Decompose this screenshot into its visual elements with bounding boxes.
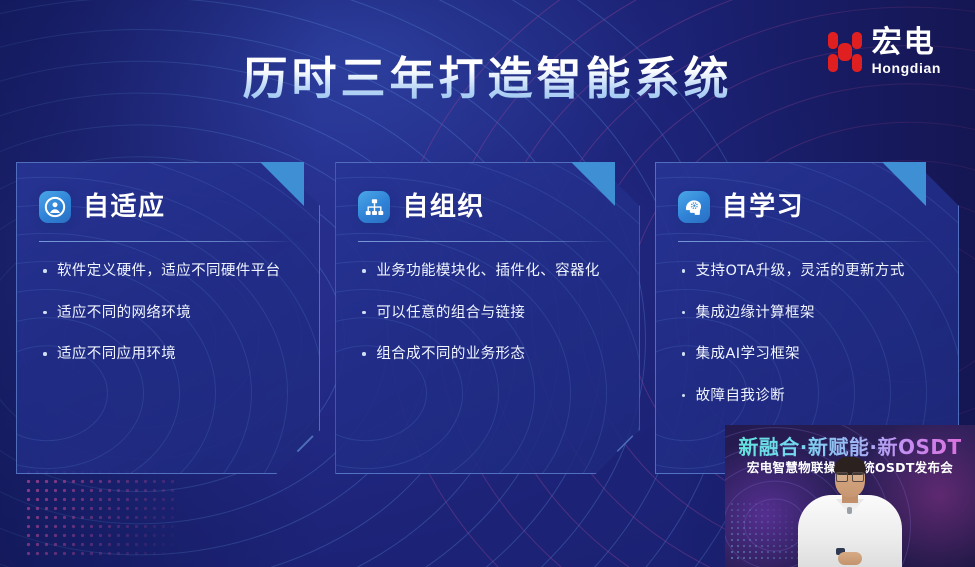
list-item: 集成AI学习框架 <box>682 345 934 365</box>
presenter-figure <box>784 455 916 567</box>
list-item: 可以任意的组合与链接 <box>362 304 614 324</box>
card-title: 自学习 <box>722 194 805 220</box>
list-item: 适应不同的网络环境 <box>43 304 295 324</box>
card-bullet-list: 软件定义硬件，适应不同硬件平台 适应不同的网络环境 适应不同应用环境 <box>17 262 319 365</box>
feature-card-self-organizing[interactable]: 自组织 业务功能模块化、插件化、容器化 可以任意的组合与链接 组合成不同的业务形… <box>335 162 639 474</box>
card-corner-stripes <box>563 409 633 467</box>
user-target-icon <box>39 191 71 223</box>
presenter-microphone-icon <box>847 507 852 514</box>
feature-card-self-adaptive[interactable]: 自适应 软件定义硬件，适应不同硬件平台 适应不同的网络环境 适应不同应用环境 <box>16 162 320 474</box>
brain-head-icon <box>678 191 710 223</box>
presenter-hands <box>838 552 862 565</box>
list-item: 故障自我诊断 <box>682 387 934 407</box>
slide-title: 历时三年打造智能系统 <box>0 42 975 107</box>
list-item: 组合成不同的业务形态 <box>362 345 614 365</box>
card-corner-stripes <box>243 409 313 467</box>
card-divider <box>678 241 932 242</box>
card-title: 自适应 <box>83 194 166 220</box>
card-bullet-list: 业务功能模块化、插件化、容器化 可以任意的组合与链接 组合成不同的业务形态 <box>336 262 638 365</box>
list-item: 支持OTA升级，灵活的更新方式 <box>682 262 934 282</box>
presenter-glasses-icon <box>836 472 864 480</box>
card-divider <box>358 241 612 242</box>
presentation-slide: 宏电 Hongdian 历时三年打造智能系统 自适应 软件定义硬 <box>0 0 975 567</box>
list-item: 适应不同应用环境 <box>43 345 295 365</box>
card-divider <box>39 241 293 242</box>
list-item: 软件定义硬件，适应不同硬件平台 <box>43 262 295 282</box>
list-item: 集成边缘计算框架 <box>682 304 934 324</box>
dot-matrix-decoration-left <box>24 468 174 560</box>
list-item: 业务功能模块化、插件化、容器化 <box>362 262 614 282</box>
org-chart-icon <box>358 191 390 223</box>
card-title: 自组织 <box>402 194 485 220</box>
card-bullet-list: 支持OTA升级，灵活的更新方式 集成边缘计算框架 集成AI学习框架 故障自我诊断 <box>656 262 958 406</box>
presenter-video-overlay[interactable]: 新融合·新赋能·新OSDT 宏电智慧物联操作系统OSDT发布会 <box>725 425 975 567</box>
